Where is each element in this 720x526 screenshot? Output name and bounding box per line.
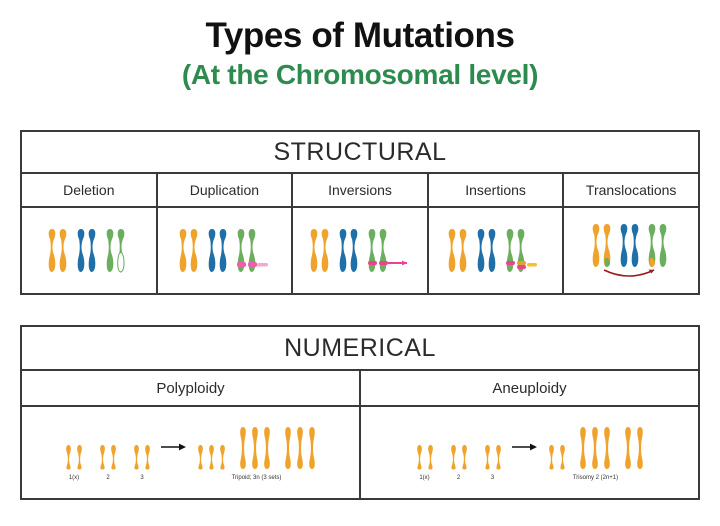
chromosome-short-icon <box>207 444 216 470</box>
diagram-cell-polyploidy: 1(x) 2 <box>22 407 361 498</box>
chromosome-short-icon <box>449 444 458 470</box>
result-group-2 <box>238 426 272 470</box>
chromosome-pair-green-translocated-icon <box>649 224 667 267</box>
diagram-cell-aneuploidy: 1(x) 2 <box>361 407 698 498</box>
chromosome-short-icon <box>196 444 205 470</box>
ploidy-set-1: 1(x) <box>415 424 435 481</box>
chromosome-short-icon <box>494 444 503 470</box>
chromosome-short-icon <box>64 444 73 470</box>
ploidy-set-label: 3 <box>491 475 494 481</box>
polyploidy-caption: Tripoid; 3n (3 sets) <box>232 475 282 481</box>
ploidy-set-label: 3 <box>140 475 143 481</box>
column-header-aneuploidy: Aneuploidy <box>361 371 698 405</box>
diagram-cell-insertions <box>429 208 565 293</box>
column-header-deletion: Deletion <box>22 174 158 206</box>
ploidy-set-1: 1(x) <box>64 424 84 481</box>
column-header-insertions: Insertions <box>429 174 565 206</box>
right-arrow-icon <box>512 442 538 452</box>
chromosome-pair-orange-icon <box>447 226 473 276</box>
chromosome-short-icon <box>547 444 556 470</box>
diagram-cell-deletion <box>22 208 158 293</box>
chromosome-pair-green-inverted-icon <box>367 226 411 276</box>
chromosome-tall-icon <box>250 426 260 470</box>
chromosome-short-icon <box>75 444 84 470</box>
chromosome-pair-orange-icon <box>47 226 73 276</box>
chromosome-set-inversions <box>309 226 411 276</box>
chromosome-tall-icon <box>635 426 645 470</box>
chromosome-tall-icon <box>295 426 305 470</box>
chromosome-pair-blue-icon <box>338 226 364 276</box>
diagram-cell-translocations <box>564 208 698 293</box>
chromosome-tall-icon <box>283 426 293 470</box>
column-header-translocations: Translocations <box>564 174 698 206</box>
result-group-2 <box>578 426 612 470</box>
chromosome-short-icon <box>132 444 141 470</box>
chromosome-short-icon <box>483 444 492 470</box>
numerical-band-title: NUMERICAL <box>22 327 698 371</box>
chromosome-tall-icon <box>578 426 588 470</box>
chromosome-pair-blue-icon <box>621 224 639 267</box>
chromosome-short-icon <box>98 444 107 470</box>
chromosome-tall-icon <box>590 426 600 470</box>
structural-table: STRUCTURAL Deletion Duplication Inversio… <box>20 130 700 295</box>
numerical-table: NUMERICAL Polyploidy Aneuploidy 1(x) <box>20 325 700 500</box>
chromosome-pair-orange-icon <box>178 226 204 276</box>
diagram-cell-duplication <box>158 208 294 293</box>
polyploidy-result: Tripoid; 3n (3 sets) <box>196 424 317 481</box>
result-group-3 <box>283 426 317 470</box>
structural-header-row: Deletion Duplication Inversions Insertio… <box>22 174 698 208</box>
chromosome-pair-orange-icon <box>309 226 335 276</box>
ploidy-set-label: 2 <box>457 475 460 481</box>
ploidy-set-3: 3 <box>132 424 152 481</box>
diagram-cell-inversions <box>293 208 429 293</box>
chromosome-tall-icon <box>238 426 248 470</box>
right-arrow-icon <box>161 442 187 452</box>
chromosome-short-icon <box>415 444 424 470</box>
aneuploidy-result: Trisomy 2 (2n+1) <box>547 424 645 481</box>
chromosome-set-insertions <box>447 226 545 276</box>
title-block: Types of Mutations (At the Chromosomal l… <box>0 0 720 91</box>
structural-body-row <box>22 208 698 293</box>
chromosome-set-translocation <box>576 220 686 282</box>
result-group-1 <box>196 444 227 470</box>
poster-root: Types of Mutations (At the Chromosomal l… <box>0 0 720 526</box>
column-header-duplication: Duplication <box>158 174 294 206</box>
chromosome-pair-blue-icon <box>207 226 233 276</box>
numerical-body-row: 1(x) 2 <box>22 407 698 498</box>
chromosome-pair-orange-translocated-icon <box>593 224 611 267</box>
chromosome-tall-icon <box>623 426 633 470</box>
numerical-header-row: Polyploidy Aneuploidy <box>22 371 698 407</box>
ploidy-set-3: 3 <box>483 424 503 481</box>
chromosome-short-icon <box>143 444 152 470</box>
chromosome-short-icon <box>218 444 227 470</box>
column-header-polyploidy: Polyploidy <box>22 371 361 405</box>
chromosome-tall-icon <box>307 426 317 470</box>
chromosome-pair-green-duplicated-icon <box>236 226 270 276</box>
ploidy-set-label: 1(x) <box>69 475 79 481</box>
chromosome-set-deletion <box>47 226 131 276</box>
ploidy-set-2: 2 <box>98 424 118 481</box>
chromosome-short-icon <box>109 444 118 470</box>
chromosome-pair-blue-icon <box>476 226 502 276</box>
chromosome-tall-icon <box>262 426 272 470</box>
chromosome-short-icon <box>460 444 469 470</box>
aneuploidy-caption: Trisomy 2 (2n+1) <box>573 475 618 481</box>
column-header-inversions: Inversions <box>293 174 429 206</box>
result-group-1 <box>547 444 567 470</box>
structural-band-title: STRUCTURAL <box>22 132 698 174</box>
result-group-3 <box>623 426 645 470</box>
chromosome-set-duplication <box>178 226 270 276</box>
ploidy-set-label: 2 <box>106 475 109 481</box>
ploidy-set-label: 1(x) <box>419 475 429 481</box>
ploidy-set-2: 2 <box>449 424 469 481</box>
chromosome-pair-green-inserted-icon <box>505 226 545 276</box>
chromosome-pair-blue-icon <box>76 226 102 276</box>
transform-arrow <box>152 424 196 470</box>
chromosome-pair-green-deleted-icon <box>105 226 131 276</box>
chromosome-short-icon <box>558 444 567 470</box>
chromosome-tall-icon <box>602 426 612 470</box>
page-subtitle: (At the Chromosomal level) <box>0 59 720 91</box>
page-title: Types of Mutations <box>0 18 720 55</box>
transform-arrow <box>503 424 547 470</box>
chromosome-short-icon <box>426 444 435 470</box>
